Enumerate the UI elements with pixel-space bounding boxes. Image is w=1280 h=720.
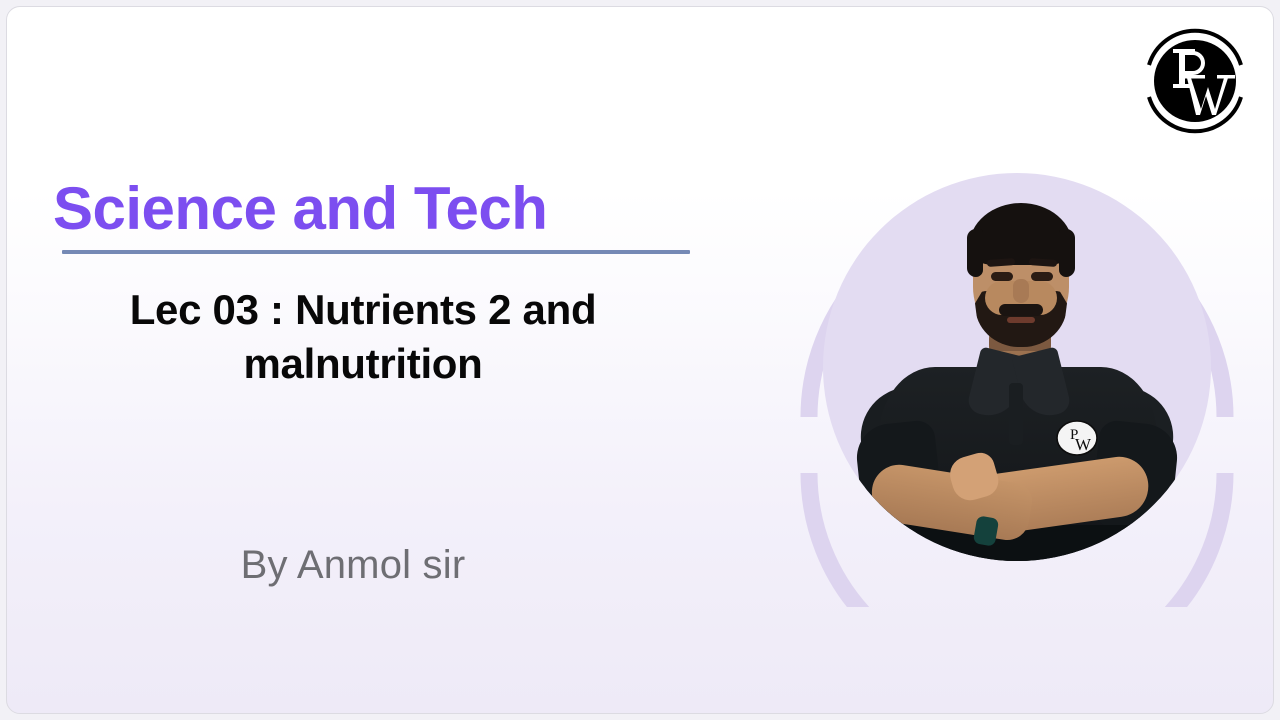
- shirt-placket: [1009, 383, 1023, 445]
- hair: [969, 203, 1073, 265]
- portrait-block: P W: [797, 147, 1237, 607]
- hair-side-left: [967, 229, 983, 277]
- page-title: Science and Tech: [53, 175, 547, 242]
- pw-shirt-badge-icon: P W: [1055, 419, 1099, 457]
- lecture-subtitle: Lec 03 : Nutrients 2 and malnutrition: [53, 283, 673, 391]
- text-column: Science and Tech Lec 03 : Nutrients 2 an…: [7, 7, 767, 714]
- mouth: [1007, 317, 1035, 323]
- instructor-byline: By Anmol sir: [53, 543, 653, 588]
- eye-left: [991, 272, 1013, 281]
- eye-right: [1031, 272, 1053, 281]
- slide-root: Science and Tech Lec 03 : Nutrients 2 an…: [0, 0, 1280, 720]
- hair-side-right: [1059, 229, 1075, 277]
- pw-logo-icon: [1137, 23, 1253, 139]
- svg-text:W: W: [1075, 435, 1092, 454]
- moustache: [999, 304, 1043, 316]
- slide-card: Science and Tech Lec 03 : Nutrients 2 an…: [6, 6, 1274, 714]
- title-underline: [62, 250, 690, 254]
- nose: [1013, 279, 1029, 303]
